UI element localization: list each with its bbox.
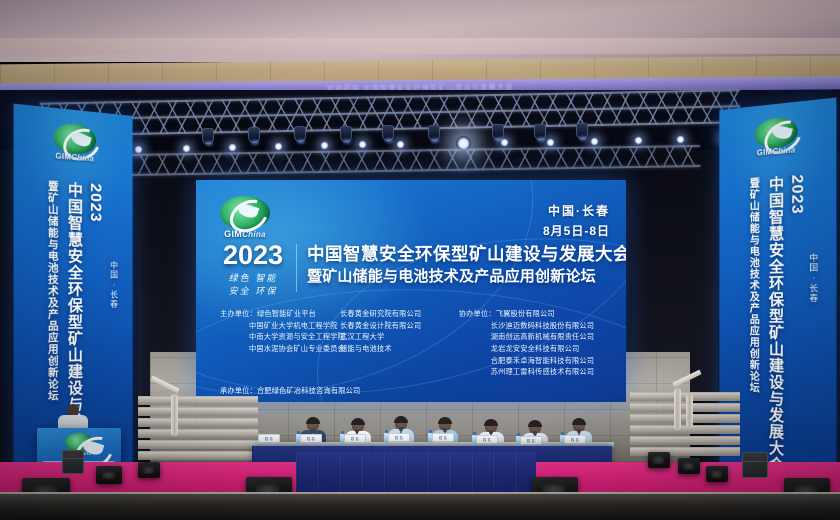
moving-head-light xyxy=(340,126,352,142)
host-col2-item-0: 长春黄金研究院有限公司 xyxy=(340,308,459,320)
right-banner-logo-suffix: China xyxy=(772,145,795,156)
right-banner-year: 2023 xyxy=(787,174,805,479)
host-col1-item-2: 中南大学资源与安全工程学院 xyxy=(220,331,340,343)
host-col1-item-0: 绿色智能矿业平台 xyxy=(257,309,316,318)
left-banner-logo: GIMChina xyxy=(49,122,100,170)
left-banner-logo-main: GIM xyxy=(55,151,71,161)
place-card: 姓 名 xyxy=(388,433,410,442)
place-card-text: 姓 名 xyxy=(521,437,541,446)
gim-logo-suffix: China xyxy=(242,230,266,239)
ceiling-band xyxy=(0,38,840,54)
support-item-0: 飞翼股份有限公司 xyxy=(496,309,555,318)
gim-emblem-icon xyxy=(220,196,270,230)
stage-light-unit xyxy=(138,462,160,478)
panelist-hair xyxy=(528,420,542,427)
moving-head-light xyxy=(248,127,260,143)
gim-logo-text: GIMChina xyxy=(216,229,274,239)
panelist-hair xyxy=(438,417,452,424)
balustrade-post xyxy=(686,394,693,428)
support-column: 协办单位：飞翼股份有限公司 长沙迪迈数码科技股份有限公司 湖南创远高新机械有限责… xyxy=(459,308,614,378)
place-card-text: 姓 名 xyxy=(477,436,497,445)
event-slogan-line1: 绿色 智能 xyxy=(218,273,288,286)
undertaker-label: 承办单位： xyxy=(220,386,257,395)
place-card: 姓 名 xyxy=(300,434,322,443)
right-banner-logo-main: GIM xyxy=(757,147,772,157)
left-balustrade xyxy=(150,382,180,444)
road-case xyxy=(742,452,768,478)
panelist-hair xyxy=(484,419,498,426)
support-item-4: 合肥泰禾卓海智能科技有限公司 xyxy=(459,355,614,367)
moving-head-light xyxy=(534,124,546,140)
right-banner-main-title: 中国智慧安全环保型矿山建设与发展大会 xyxy=(764,175,785,477)
place-card: 姓 名 xyxy=(344,434,366,443)
moving-head-light xyxy=(382,125,394,141)
host-column-2: 长春黄金研究院有限公司 长春黄金设计院有限公司 武汉工程大学 储能与电池技术 xyxy=(340,308,459,378)
moving-head-light xyxy=(294,126,306,142)
place-card-text: 姓 名 xyxy=(345,435,365,444)
stage-light-unit xyxy=(706,466,728,482)
moving-head-light xyxy=(202,128,214,144)
stage-light-unit xyxy=(96,466,122,484)
place-card: 姓 名 xyxy=(432,433,454,442)
left-banner-logo-suffix: China xyxy=(71,153,94,164)
stage-light-unit xyxy=(678,458,700,474)
moving-head-light xyxy=(492,124,504,140)
support-item-3: 龙岩龙安安全科技有限公司 xyxy=(459,343,614,355)
host-col2-item-2: 武汉工程大学 xyxy=(340,331,459,343)
balustrade-post xyxy=(171,394,178,436)
title-divider xyxy=(296,244,297,292)
host-col1-item-1: 中国矿业大学机电工程学院 xyxy=(220,320,340,332)
undertaker-name: 合肥绿色矿冶科技咨询有限公司 xyxy=(257,386,360,395)
host-col2-item-1: 长春黄金设计院有限公司 xyxy=(340,320,459,332)
main-led-screen: GIMChina 中国·长春 8月5日-8日 2023 绿色 智能 安全 环保 … xyxy=(196,180,626,402)
event-year: 2023 xyxy=(218,242,288,269)
organizer-block: 主办单位：绿色智能矿业平台 中国矿业大学机电工程学院 中南大学资源与安全工程学院… xyxy=(220,308,614,397)
moving-head-light xyxy=(428,125,440,141)
right-banner-logo: GIMChina xyxy=(751,115,802,163)
balustrade-post xyxy=(674,388,681,430)
gim-china-logo: GIMChina xyxy=(216,196,274,246)
right-banner-sub-title: 暨矿山储能与电池技术及产品应用创新论坛 xyxy=(748,177,762,475)
support-item-2: 湖南创远高新机械有限责任公司 xyxy=(459,331,614,343)
place-card: 姓 名 xyxy=(258,434,280,443)
place-card: 姓 名 xyxy=(476,435,498,444)
host-label: 主办单位： xyxy=(220,309,257,318)
event-date: 8月5日-8日 xyxy=(543,222,610,239)
right-balustrade xyxy=(672,376,702,438)
moving-head-light xyxy=(576,123,588,139)
event-title-main: 中国智慧安全环保型矿山建设与发展大会 暨矿山储能与电池技术及产品应用创新论坛 xyxy=(307,242,626,285)
support-label-row: 协办单位：飞翼股份有限公司 xyxy=(459,308,614,320)
place-card-text: 姓 名 xyxy=(259,435,279,444)
event-title-row: 2023 绿色 智能 安全 环保 中国智慧安全环保型矿山建设与发展大会 暨矿山储… xyxy=(218,242,626,299)
stage-light-unit xyxy=(648,452,670,468)
place-card: 姓 名 xyxy=(520,436,542,445)
event-title-line2: 暨矿山储能与电池技术及产品应用创新论坛 xyxy=(307,268,626,285)
host-col2-item-3: 储能与电池技术 xyxy=(340,343,459,355)
place-card-text: 姓 名 xyxy=(433,434,453,443)
event-year-block: 2023 绿色 智能 安全 环保 xyxy=(218,242,296,299)
organizer-grid: 主办单位：绿色智能矿业平台 中国矿业大学机电工程学院 中南大学资源与安全工程学院… xyxy=(220,308,614,378)
host-label-row: 主办单位：绿色智能矿业平台 xyxy=(220,308,340,320)
support-label: 协办单位： xyxy=(459,309,496,318)
key-light xyxy=(456,136,471,151)
stage-scene: 欢迎莅临 中国智慧安全环保型矿山建设与发展大会 xyxy=(0,0,840,520)
right-banner-logo-text: GIMChina xyxy=(751,145,802,158)
event-place: 中国·长春 xyxy=(543,202,610,219)
event-title-line1: 中国智慧安全环保型矿山建设与发展大会 xyxy=(307,244,626,264)
place-card-text: 姓 名 xyxy=(301,435,321,444)
panelist-hair xyxy=(306,417,320,424)
stage-apron xyxy=(0,494,840,520)
panelist-hair xyxy=(394,416,408,423)
event-place-date: 中国·长春 8月5日-8日 xyxy=(543,202,610,239)
road-case xyxy=(62,450,84,474)
panelist-hair xyxy=(351,418,365,425)
event-slogan: 绿色 智能 安全 环保 xyxy=(218,273,288,299)
host-col1-item-3: 中国水泥协会矿山专业委员会 xyxy=(220,343,340,355)
undertaker-row: 承办单位：合肥绿色矿冶科技咨询有限公司 xyxy=(220,385,614,397)
panelist-hair xyxy=(572,418,586,425)
support-item-1: 长沙迪迈数码科技股份有限公司 xyxy=(459,320,614,332)
event-slogan-line2: 安全 环保 xyxy=(218,286,288,299)
right-banner-place: 中国·长春 xyxy=(808,253,820,303)
place-card-text: 姓 名 xyxy=(389,434,409,443)
place-card-text: 姓 名 xyxy=(565,436,585,445)
gim-emblem-icon xyxy=(53,122,96,156)
host-column-1: 主办单位：绿色智能矿业平台 中国矿业大学机电工程学院 中南大学资源与安全工程学院… xyxy=(220,308,340,378)
gim-logo-main: GIM xyxy=(224,229,242,239)
ceiling xyxy=(0,0,840,62)
left-banner-place: 中国·长春 xyxy=(108,261,119,309)
support-item-5: 苏州理工雷科传感技术有限公司 xyxy=(459,366,614,378)
place-card: 姓 名 xyxy=(564,435,586,444)
